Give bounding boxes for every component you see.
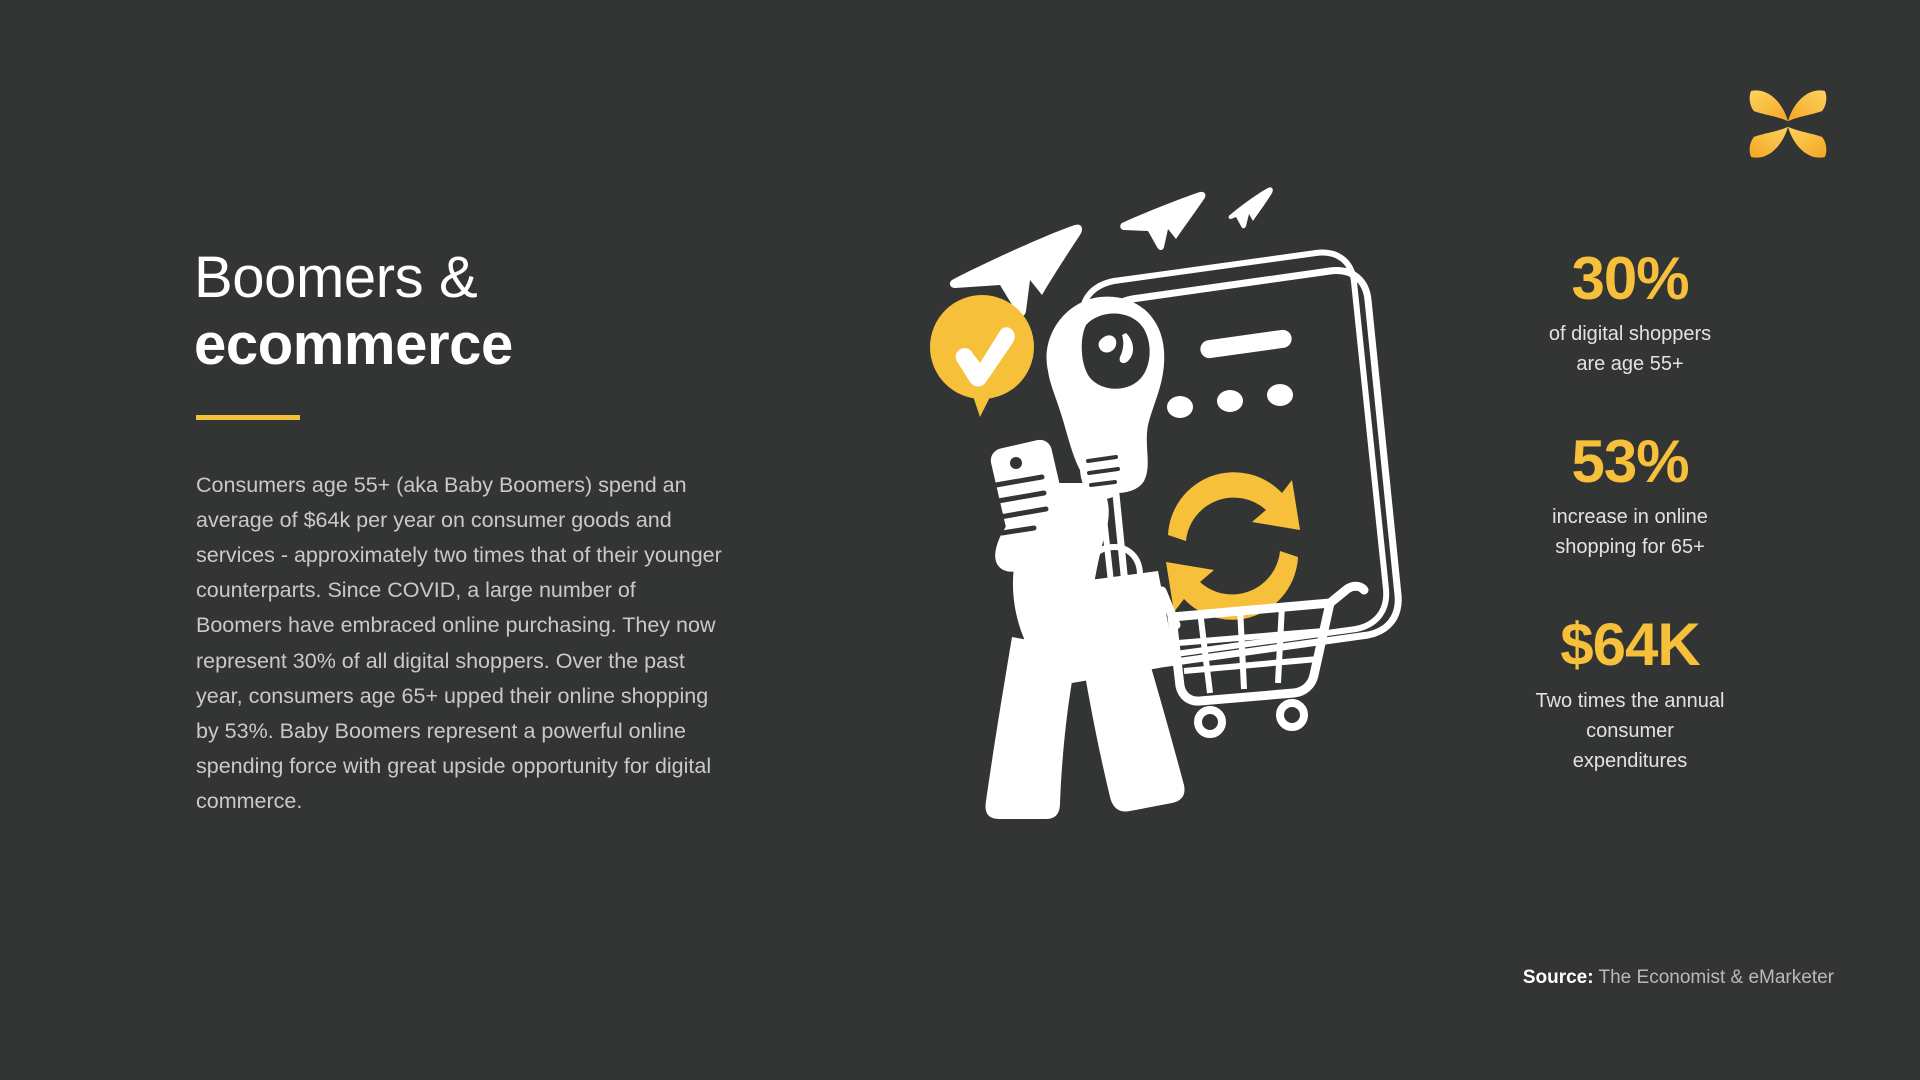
stat-card-2: 53% increase in online shopping for 65+: [1500, 431, 1760, 562]
loading-dots-icon: [1167, 384, 1293, 418]
stat-label-3: Two times the annual consumer expenditur…: [1500, 686, 1760, 776]
source-value: The Economist & eMarketer: [1594, 967, 1834, 988]
page-title-line-2: ecommerce: [194, 311, 734, 378]
page-title-line-1: Boomers &: [194, 244, 734, 311]
stat-label-2-line-1: increase in online: [1500, 502, 1760, 532]
accent-divider: [196, 415, 300, 420]
stat-label-1-line-2: are age 55+: [1500, 349, 1760, 379]
stat-card-3: $64K Two times the annual consumer expen…: [1500, 614, 1760, 775]
stats-column: 30% of digital shoppers are age 55+ 53% …: [1500, 248, 1760, 776]
stat-value-3: $64K: [1500, 614, 1760, 675]
stat-label-3-line-2: consumer: [1500, 716, 1760, 746]
stat-label-2: increase in online shopping for 65+: [1500, 502, 1760, 562]
sync-refresh-icon: [1166, 472, 1300, 620]
source-label: Source:: [1523, 967, 1594, 988]
source-attribution: Source: The Economist & eMarketer: [1494, 967, 1834, 989]
body-paragraph: Consumers age 55+ (aka Baby Boomers) spe…: [196, 468, 726, 820]
stat-label-3-line-3: expenditures: [1500, 746, 1760, 776]
stat-label-1: of digital shoppers are age 55+: [1500, 319, 1760, 379]
x-logo: [1742, 78, 1834, 170]
page-title: Boomers & ecommerce: [194, 244, 734, 379]
tiny-paper-plane-icon: [1229, 187, 1273, 228]
tablet-speaker: [1199, 329, 1293, 360]
stat-card-1: 30% of digital shoppers are age 55+: [1500, 248, 1760, 379]
stat-label-2-line-2: shopping for 65+: [1500, 532, 1760, 562]
check-badge-icon: [930, 295, 1034, 417]
stat-value-1: 30%: [1500, 248, 1760, 309]
stat-value-2: 53%: [1500, 431, 1760, 492]
stat-label-1-line-1: of digital shoppers: [1500, 319, 1760, 349]
slide-canvas: Boomers & ecommerce Consumers age 55+ (a…: [0, 0, 1920, 1080]
woman-shopping-on-tablet-illustration: [900, 185, 1460, 835]
left-content-column: Boomers & ecommerce Consumers age 55+ (a…: [194, 244, 734, 820]
stat-label-3-line-1: Two times the annual: [1500, 686, 1760, 716]
small-paper-plane-icon: [1120, 192, 1205, 250]
